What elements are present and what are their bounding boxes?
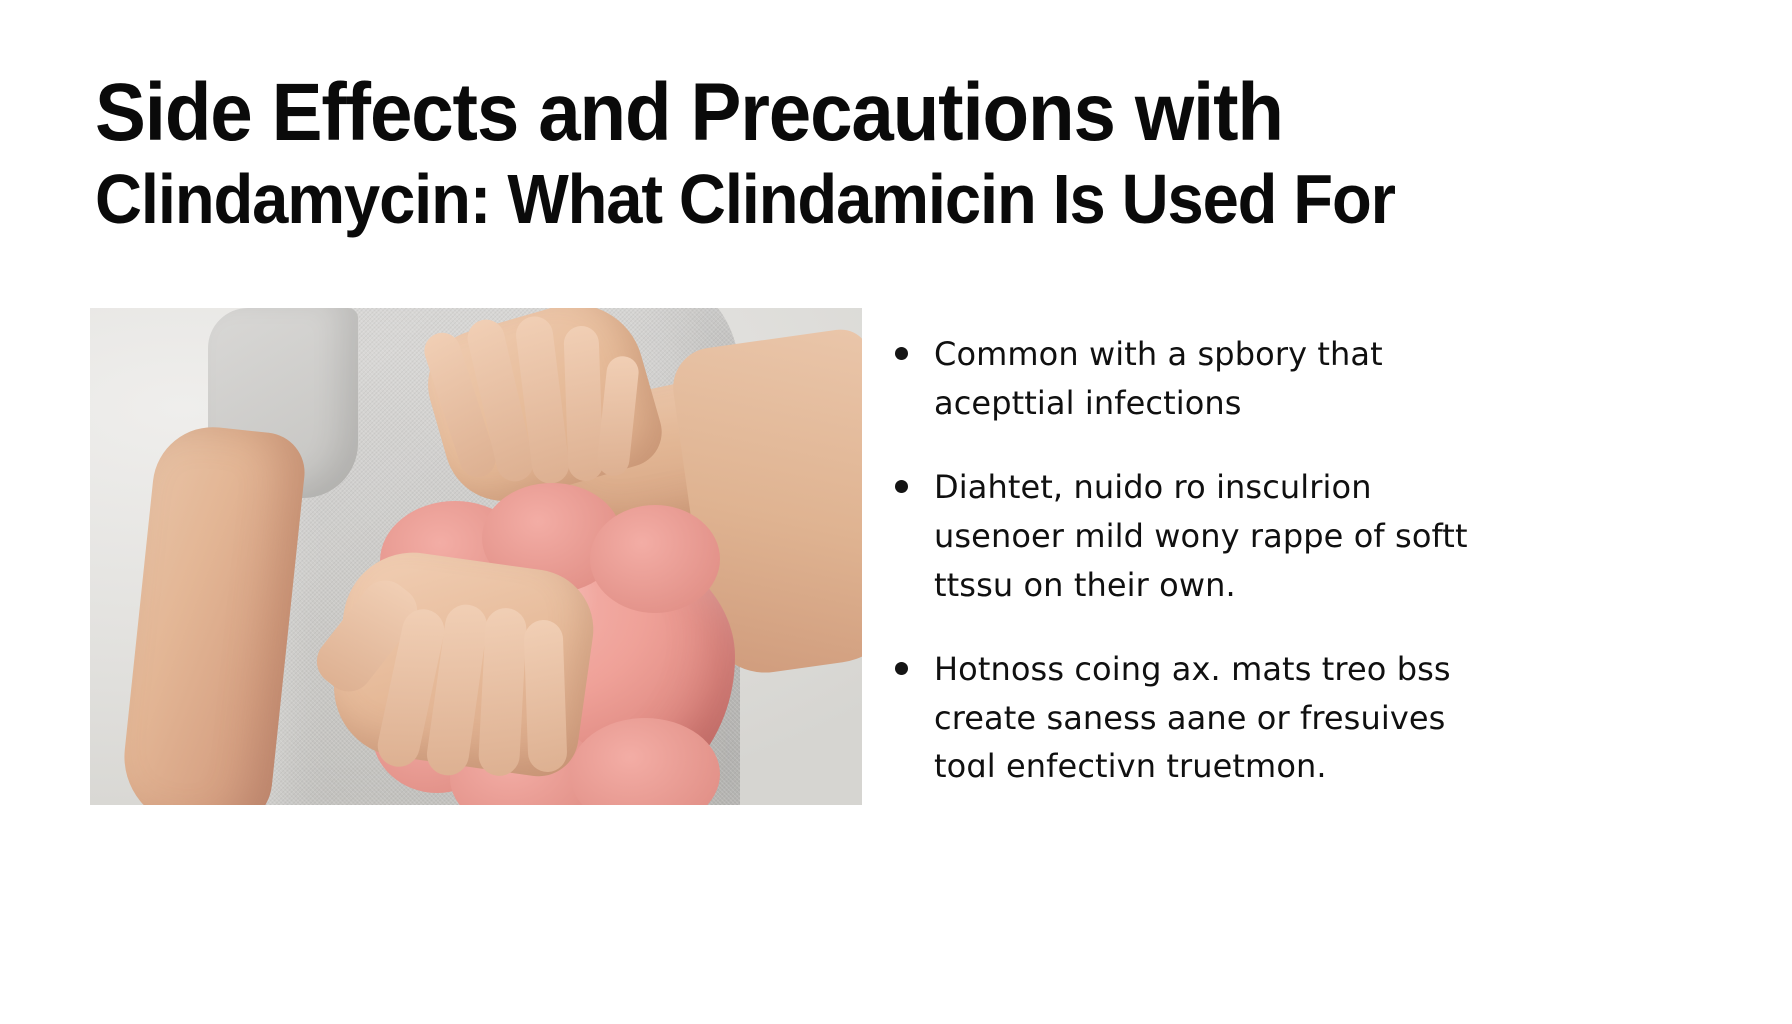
list-item: Common with a spbory that acepttial infe… xyxy=(895,330,1495,427)
lower-hand-finger-3 xyxy=(478,607,528,777)
bullet-dot-icon xyxy=(895,662,908,675)
illustration-photo xyxy=(90,308,862,805)
list-item: Diahtet, nuido ro insculrion usenoer mil… xyxy=(895,463,1495,609)
lower-hand-finger-4 xyxy=(523,619,567,772)
title-line-1: Side Effects and Precautions with xyxy=(95,72,1592,154)
organ-lobe xyxy=(590,505,720,613)
slide-root: Side Effects and Precautions with Clinda… xyxy=(0,0,1792,1024)
bullet-text: Common with a spbory that acepttial infe… xyxy=(934,330,1495,427)
bullet-text: Diahtet, nuido ro insculrion usenoer mil… xyxy=(934,463,1495,609)
organ-lobe xyxy=(570,718,720,805)
bullet-dot-icon xyxy=(895,347,908,360)
bullet-text: Hotnoss coing ax. mats treo bss create s… xyxy=(934,645,1495,791)
bullet-list: Common with a spbory that acepttial infe… xyxy=(895,330,1495,827)
title-line-2: Clindamycin: What Clindamicin Is Used Fo… xyxy=(95,164,1592,234)
bullet-dot-icon xyxy=(895,480,908,493)
list-item: Hotnoss coing ax. mats treo bss create s… xyxy=(895,645,1495,791)
page-title: Side Effects and Precautions with Clinda… xyxy=(95,72,1705,234)
